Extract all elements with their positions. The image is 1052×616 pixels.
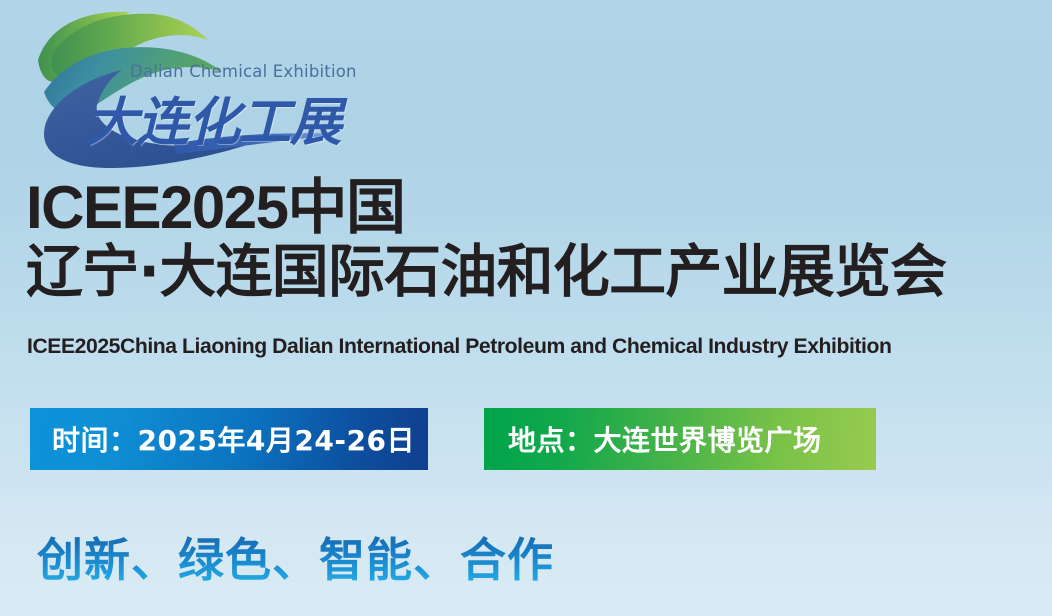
slogan-text: 创新、绿色、智能、合作 — [37, 524, 554, 590]
venue-badge-label: 地点：大连世界博览广场 — [508, 419, 822, 459]
page-title-line-1: ICEE2025中国 — [26, 178, 1036, 238]
title-block: ICEE2025中国 辽宁·大连国际石油和化工产业展览会 — [26, 178, 1036, 301]
english-subtitle: ICEE2025China Liaoning Dalian Internatio… — [27, 334, 891, 359]
logo-tagline: Dalian Chemical Exhibition — [130, 62, 357, 81]
date-badge: 时间：2025年4月24-26日 — [30, 408, 428, 470]
exhibition-banner: Dalian Chemical Exhibition 大连化工展 ICEE202… — [0, 0, 1052, 616]
date-badge-label: 时间：2025年4月24-26日 — [52, 419, 415, 459]
logo-block: Dalian Chemical Exhibition 大连化工展 — [26, 8, 346, 168]
logo-wordmark: 大连化工展 — [86, 80, 341, 155]
page-title-line-2: 辽宁·大连国际石油和化工产业展览会 — [26, 244, 1031, 301]
venue-badge: 地点：大连世界博览广场 — [484, 408, 876, 470]
